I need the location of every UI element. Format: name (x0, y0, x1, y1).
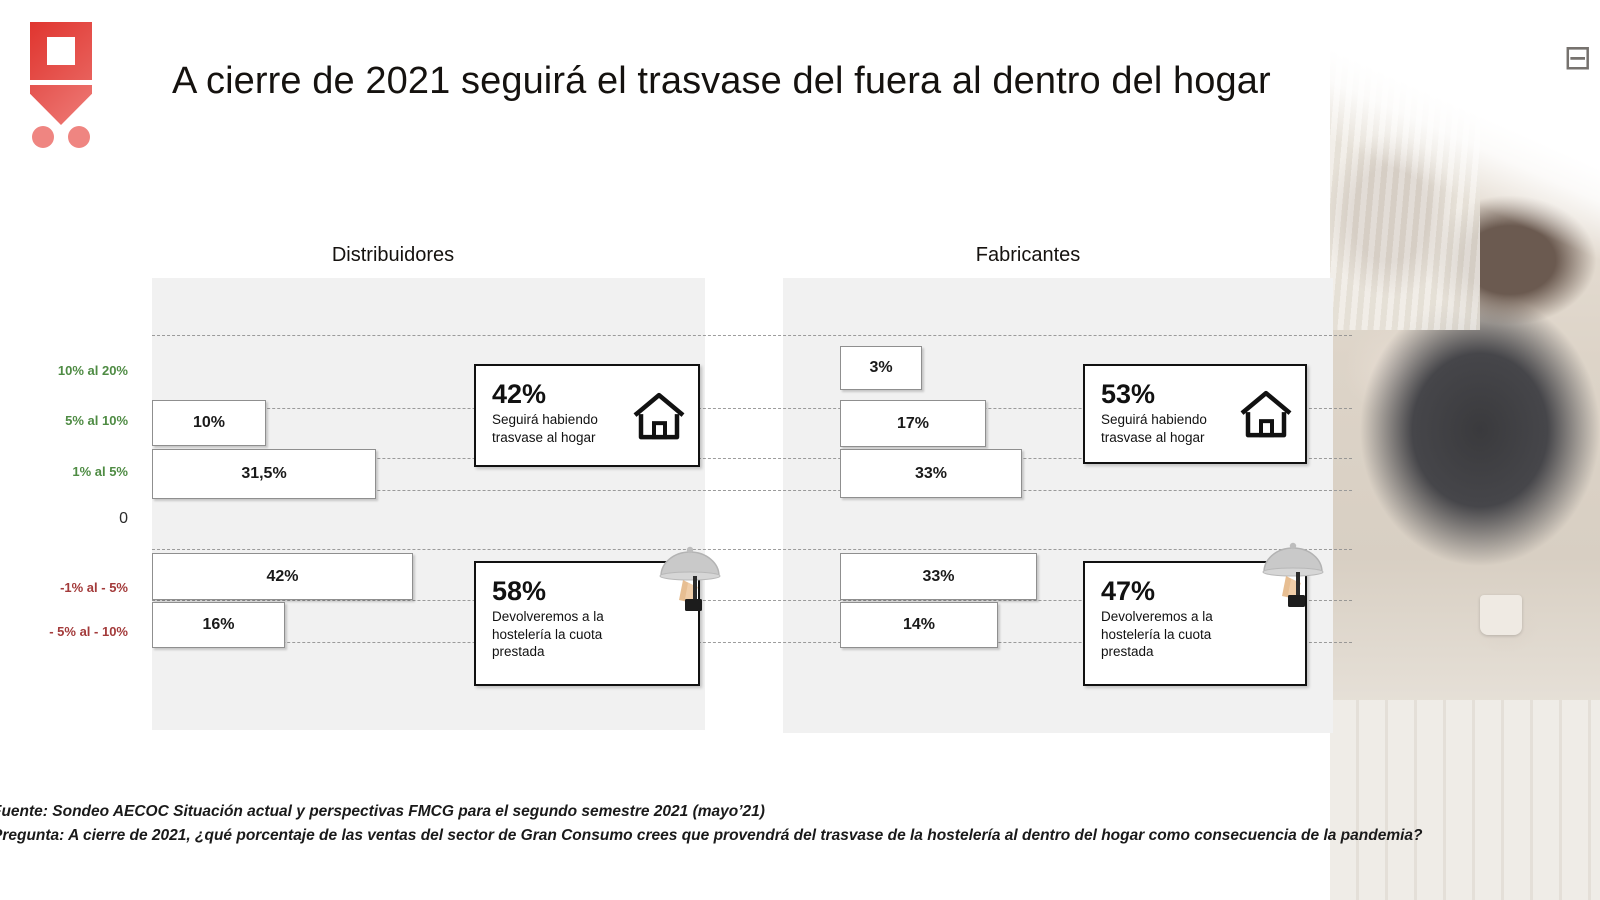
callout-distribuidores-hogar[interactable]: 42% Seguirá habiendo trasvase al hogar (474, 364, 700, 467)
axis-label-zero: 0 (119, 510, 128, 528)
column-header-fabricantes: Fabricantes (888, 244, 1168, 267)
column-header-distribuidores: Distribuidores (253, 244, 533, 267)
callout-text: Devolveremos a la hostelería la cuota pr… (492, 608, 642, 660)
bar-distribuidores-1-5[interactable]: 31,5% (152, 449, 376, 499)
logo-square-shape (30, 22, 92, 80)
callout-text: Seguirá habiendo trasvase al hogar (1101, 411, 1251, 446)
window-frame-icon: ⊟ (1564, 38, 1593, 78)
bar-fabricantes-neg-1-5[interactable]: 33% (840, 553, 1037, 600)
axis-label-5-10: 5% al 10% (65, 413, 128, 428)
logo-chevron-shape (30, 85, 92, 125)
footnote-source: Fuente: Sondeo AECOC Situación actual y … (0, 803, 765, 821)
aecoc-logo (30, 22, 92, 147)
chart-container: Distribuidores Fabricantes 10% al 20% 5%… (0, 230, 1600, 750)
bar-distribuidores-neg-5-10[interactable]: 16% (152, 602, 285, 648)
axis-label-1-5: 1% al 5% (72, 464, 128, 479)
callout-fabricantes-hogar[interactable]: 53% Seguirá habiendo trasvase al hogar (1083, 364, 1307, 464)
bar-fabricantes-5-10[interactable]: 17% (840, 400, 986, 447)
callout-text: Seguirá habiendo trasvase al hogar (492, 411, 642, 446)
house-icon (632, 392, 686, 445)
gridline-10-20 (152, 335, 1352, 336)
bar-distribuidores-neg-1-5[interactable]: 42% (152, 553, 413, 600)
callout-text: Devolveremos a la hostelería la cuota pr… (1101, 608, 1251, 660)
axis-label-10-20: 10% al 20% (58, 363, 128, 378)
bar-fabricantes-1-5[interactable]: 33% (840, 449, 1022, 498)
callout-value: 58% (492, 577, 682, 605)
logo-dot-right (68, 126, 90, 148)
bar-fabricantes-10-20[interactable]: 3% (840, 346, 922, 390)
axis-label-neg-1-5: -1% al - 5% (60, 580, 128, 595)
bar-fabricantes-neg-5-10[interactable]: 14% (840, 602, 998, 648)
page-title: A cierre de 2021 seguirá el trasvase del… (172, 60, 1502, 103)
bar-distribuidores-5-10[interactable]: 10% (152, 400, 266, 446)
gridline-neg-1-5 (152, 549, 1352, 550)
footnote-question: Pregunta: A cierre de 2021, ¿qué porcent… (0, 827, 1423, 845)
axis-label-neg-5-10: - 5% al - 10% (49, 624, 128, 639)
logo-dot-left (32, 126, 54, 148)
house-icon (1239, 390, 1293, 443)
serving-tray-icon (655, 542, 725, 625)
serving-tray-icon (1258, 538, 1328, 621)
